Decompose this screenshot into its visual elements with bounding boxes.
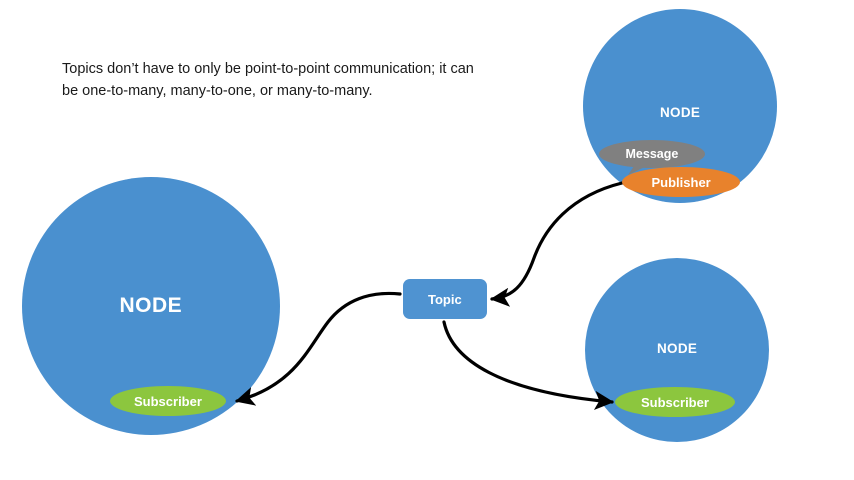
diagram-canvas: Topics don’t have to only be point-to-po… <box>0 0 854 480</box>
message-bubble[interactable] <box>599 140 705 168</box>
connector-publisher-to-topic <box>492 183 622 299</box>
topic-box[interactable] <box>403 279 487 319</box>
diagram-graphics <box>0 0 854 480</box>
subscriber-pill-bottom-right[interactable] <box>615 387 735 417</box>
publisher-pill[interactable] <box>622 167 740 197</box>
subscriber-pill-left[interactable] <box>110 386 226 416</box>
